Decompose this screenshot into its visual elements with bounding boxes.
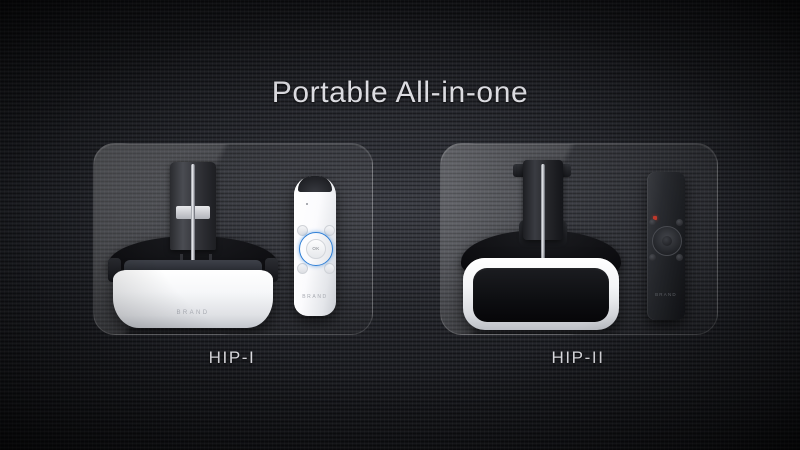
product-caption-hip-i: HIP-I — [93, 348, 371, 368]
page-title: Portable All-in-one — [0, 76, 800, 110]
remote-ok-button[interactable]: OK — [306, 239, 326, 259]
slide-canvas: Portable All-in-one BRAND OK BRAND — [0, 0, 800, 450]
headset-brand-logo: BRAND — [113, 310, 273, 316]
remote-button-volume-up[interactable] — [676, 254, 683, 261]
product-image-remote-hip-i: OK BRAND — [294, 176, 336, 316]
remote-button-back[interactable] — [649, 219, 656, 226]
remote-button-volume-down[interactable] — [649, 254, 656, 261]
product-card-hip-i[interactable]: BRAND OK BRAND — [93, 143, 373, 335]
remote-brand-logo: BRAND — [294, 294, 336, 300]
remote-button-volume-down[interactable] — [297, 263, 308, 274]
remote-brand-logo: BRAND — [647, 292, 685, 297]
product-image-headset-hip-ii — [457, 160, 625, 330]
headset-adjust-rod — [541, 164, 545, 260]
remote-button-home[interactable] — [676, 219, 683, 226]
remote-button-volume-up[interactable] — [324, 263, 335, 274]
product-caption-hip-ii: HIP-II — [440, 348, 716, 368]
product-card-hip-ii[interactable]: BRAND — [440, 143, 718, 335]
product-image-headset-hip-i: BRAND — [108, 162, 278, 327]
headset-faceplate — [473, 268, 609, 322]
headset-front-shell — [113, 270, 273, 328]
remote-status-led-icon — [306, 203, 308, 205]
headset-adjust-rod — [191, 164, 195, 268]
remote-top-cap — [298, 176, 332, 192]
remote-touchpad[interactable] — [652, 226, 682, 256]
product-image-remote-hip-ii: BRAND — [647, 172, 685, 320]
